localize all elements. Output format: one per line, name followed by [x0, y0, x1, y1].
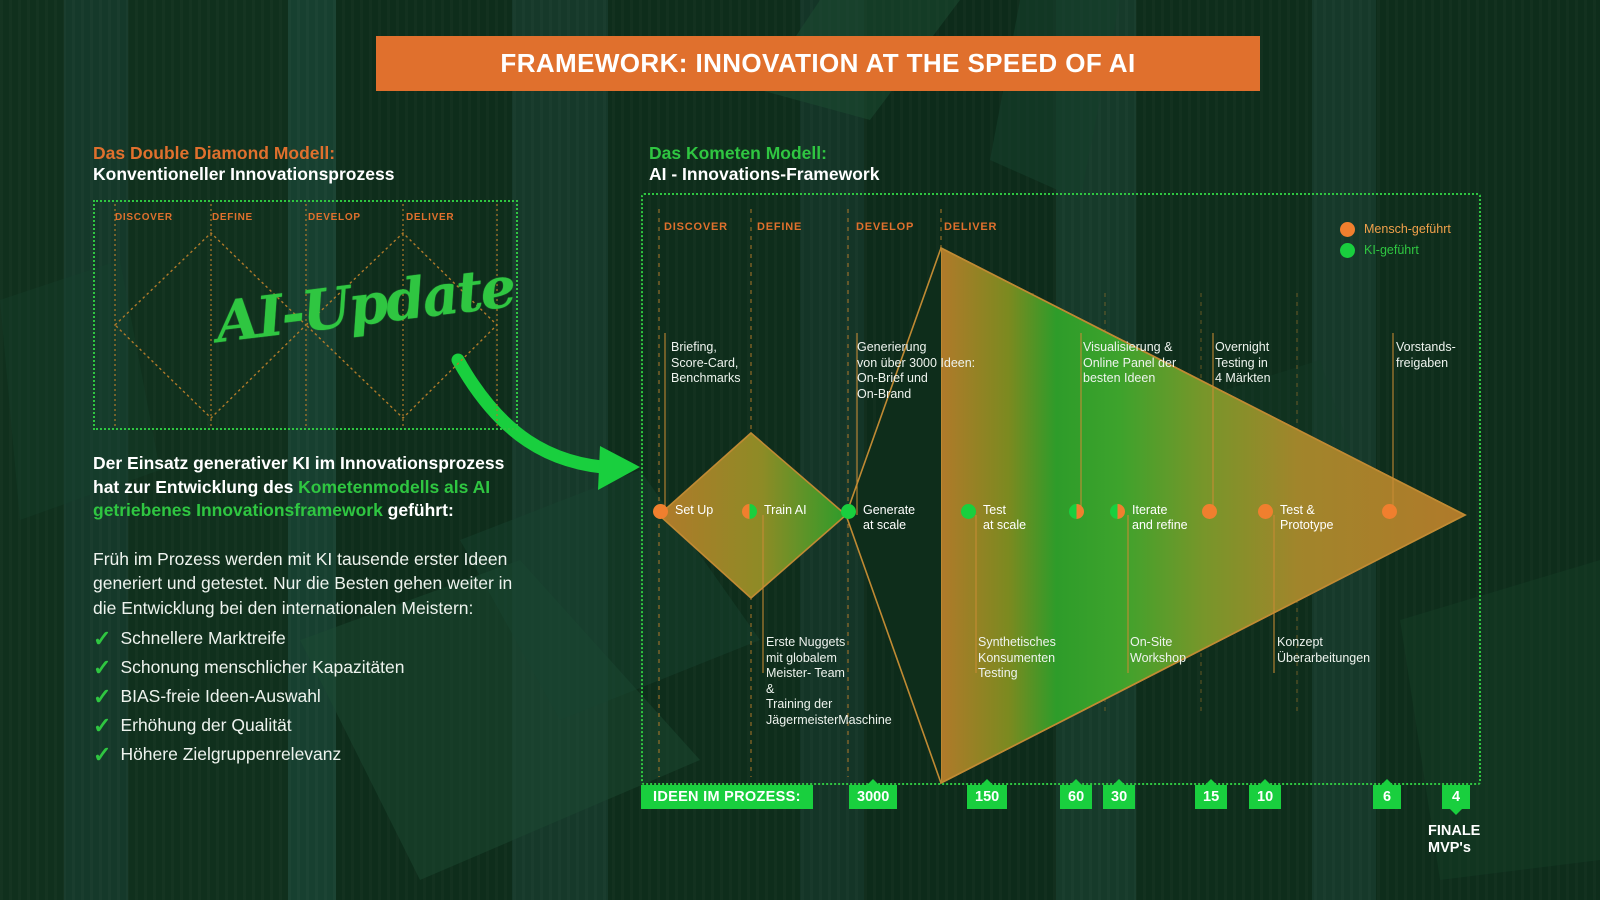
milestone-unlabeled-2[interactable]: [1202, 503, 1217, 519]
legend-label: KI-geführt: [1364, 243, 1419, 257]
milestone-unlabeled-1[interactable]: [1069, 503, 1084, 519]
ai-dot-icon: [961, 504, 976, 519]
milestone-generate-at-scale[interactable]: Generate at scale: [841, 503, 915, 533]
human-dot-icon: [1340, 222, 1355, 237]
legend-item-human: Mensch-geführt: [1340, 218, 1451, 239]
mixed-dot-icon: [1110, 504, 1125, 519]
check-icon: ✓: [93, 744, 111, 766]
left-heading-white: Konventioneller Innovationsprozess: [93, 164, 533, 185]
milestone-label: Set Up: [675, 503, 713, 518]
milestone-set-up[interactable]: Set Up: [653, 503, 713, 519]
note-overnight: Overnight Testing in 4 Märkten: [1215, 340, 1325, 387]
page-title: FRAMEWORK: INNOVATION AT THE SPEED OF AI: [500, 48, 1135, 79]
dd-phase-develop: DEVELOP: [308, 212, 361, 223]
left-body-text: Der Einsatz generativer KI im Innovation…: [93, 452, 523, 769]
legend-label: Mensch-geführt: [1364, 222, 1451, 236]
milestone-test-at-scale[interactable]: Test at scale: [961, 503, 1026, 533]
mixed-dot-icon: [742, 504, 757, 519]
header-banner: FRAMEWORK: INNOVATION AT THE SPEED OF AI: [376, 36, 1260, 91]
mixed-dot-icon: [1069, 504, 1084, 519]
check-icon: ✓: [93, 628, 111, 650]
dd-phase-define: DEFINE: [212, 212, 253, 223]
scale-chip-3000: 3000: [849, 785, 897, 809]
bold-part-2: geführt:: [383, 500, 454, 520]
check-icon: ✓: [93, 657, 111, 679]
note-konzept: Konzept Überarbeitungen: [1277, 635, 1407, 666]
list-item: ✓Höhere Zielgruppenrelevanz: [93, 740, 523, 769]
scale-chip-150: 150: [967, 785, 1007, 809]
benefits-list: ✓Schnellere Marktreife ✓Schonung menschl…: [93, 624, 523, 769]
milestone-iterate-and-refine[interactable]: Iterate and refine: [1110, 503, 1188, 533]
check-icon: ✓: [93, 686, 111, 708]
left-heading-orange: Das Double Diamond Modell:: [93, 143, 533, 164]
milestone-label: Test & Prototype: [1280, 503, 1334, 533]
scale-chip-10: 10: [1249, 785, 1281, 809]
milestone-label: Train AI: [764, 503, 807, 518]
legend-item-ai: KI-geführt: [1340, 239, 1451, 260]
legend: Mensch-geführt KI-geführt: [1340, 218, 1451, 260]
list-item-label: Schnellere Marktreife: [120, 628, 285, 649]
scale-chip-30: 30: [1103, 785, 1135, 809]
note-erste-nuggets: Erste Nuggets mit globalem Meister- Team…: [766, 635, 916, 728]
comet-phase-deliver: DELIVER: [944, 221, 997, 233]
check-icon: ✓: [93, 715, 111, 737]
list-item-label: Höhere Zielgruppenrelevanz: [120, 744, 341, 765]
milestone-unlabeled-3[interactable]: [1382, 503, 1397, 519]
scale-chip-15: 15: [1195, 785, 1227, 809]
right-heading-white: AI - Innovations-Framework: [649, 164, 879, 185]
list-item: ✓Erhöhung der Qualität: [93, 711, 523, 740]
note-generierung: Generierung von über 3000 Ideen: On-Brie…: [857, 340, 1017, 402]
finale-mvps-label: FINALE MVP's: [1428, 823, 1480, 857]
scale-chip-60: 60: [1060, 785, 1092, 809]
comet-phase-define: DEFINE: [757, 221, 802, 233]
list-item: ✓Schnellere Marktreife: [93, 624, 523, 653]
milestone-label: Iterate and refine: [1132, 503, 1188, 533]
note-onsite: On-Site Workshop: [1130, 635, 1240, 666]
left-bold-paragraph: Der Einsatz generativer KI im Innovation…: [93, 452, 523, 523]
note-visualisierung: Visualisierung & Online Panel der besten…: [1083, 340, 1203, 387]
left-body-paragraph: Früh im Prozess werden mit KI tausende e…: [93, 547, 523, 621]
list-item: ✓Schonung menschlicher Kapazitäten: [93, 653, 523, 682]
ai-dot-icon: [841, 504, 856, 519]
milestone-label: Generate at scale: [863, 503, 915, 533]
dd-phase-discover: DISCOVER: [115, 212, 173, 223]
note-vorstands: Vorstands- freigaben: [1396, 340, 1496, 371]
note-synthetisches: Synthetisches Konsumenten Testing: [978, 635, 1108, 682]
human-dot-icon: [1202, 504, 1217, 519]
comet-phase-discover: DISCOVER: [664, 221, 728, 233]
milestone-test-and-prototype[interactable]: Test & Prototype: [1258, 503, 1334, 533]
list-item-label: BIAS-freie Ideen-Auswahl: [120, 686, 320, 707]
human-dot-icon: [653, 504, 668, 519]
left-panel-heading: Das Double Diamond Modell: Konventionell…: [93, 143, 533, 185]
milestone-label: Test at scale: [983, 503, 1026, 533]
dd-phase-deliver: DELIVER: [406, 212, 454, 223]
scale-label: IDEEN IM PROZESS:: [641, 785, 813, 809]
list-item-label: Erhöhung der Qualität: [120, 715, 291, 736]
right-panel-heading: Das Kometen Modell: AI - Innovations-Fra…: [649, 143, 879, 185]
scale-chip-6: 6: [1373, 785, 1401, 809]
ideas-scale: IDEEN IM PROZESS: 3000 150 60 30 15 10 6…: [641, 785, 1481, 809]
list-item: ✓BIAS-freie Ideen-Auswahl: [93, 682, 523, 711]
note-briefing: Briefing, Score-Card, Benchmarks: [671, 340, 761, 387]
ai-dot-icon: [1340, 243, 1355, 258]
list-item-label: Schonung menschlicher Kapazitäten: [120, 657, 404, 678]
right-heading-green: Das Kometen Modell:: [649, 143, 879, 164]
scale-chip-4: 4: [1442, 785, 1470, 809]
milestone-train-ai[interactable]: Train AI: [742, 503, 807, 519]
human-dot-icon: [1258, 504, 1273, 519]
comet-phase-develop: DEVELOP: [856, 221, 914, 233]
human-dot-icon: [1382, 504, 1397, 519]
